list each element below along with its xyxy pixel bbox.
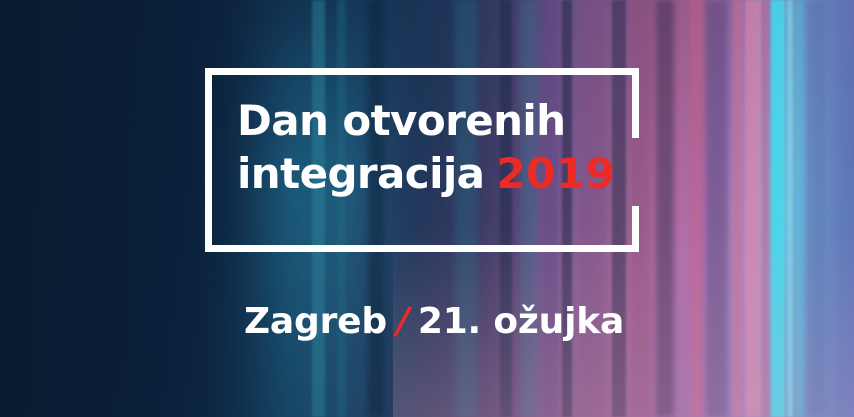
stripe-rose-2: [733, 0, 743, 417]
stripe-dark-3: [656, 0, 674, 417]
frame-border-left: [205, 68, 212, 252]
logo-title-line-1: Dan otvorenih: [237, 94, 675, 147]
event-city: Zagreb: [244, 301, 387, 342]
stripe-slate-1: [706, 0, 728, 417]
stripe-pink-bright: [745, 0, 761, 417]
frame-border-bottom: [205, 245, 639, 252]
frame-border-top: [205, 68, 639, 75]
stripe-rose-3: [762, 0, 769, 417]
stripe-cyan-edge: [787, 0, 793, 417]
stripe-cyan-core: [771, 0, 785, 417]
stripe-cyan-halo: [795, 0, 804, 417]
logo-title-text-2: integracija: [237, 149, 484, 198]
logo-year: 2019: [496, 149, 615, 198]
frame-border-right-bottom: [632, 206, 639, 252]
event-subtitle: Zagreb/21. ožujka: [244, 300, 624, 344]
stripe-rose-1: [690, 0, 704, 417]
event-date: 21. ožujka: [418, 301, 624, 342]
logo-lockup: Dan otvorenih integracija2019: [205, 68, 639, 252]
logo-title-line-2: integracija2019: [237, 147, 675, 200]
event-banner: Dan otvorenih integracija2019 Zagreb/21.…: [0, 0, 854, 417]
logo-title-block: Dan otvorenih integracija2019: [237, 94, 675, 200]
stripe-periwinkle: [828, 0, 854, 417]
subtitle-separator: /: [391, 300, 413, 344]
stripe-slate-2: [806, 0, 826, 417]
logo-title-text-1: Dan otvorenih: [237, 96, 566, 145]
